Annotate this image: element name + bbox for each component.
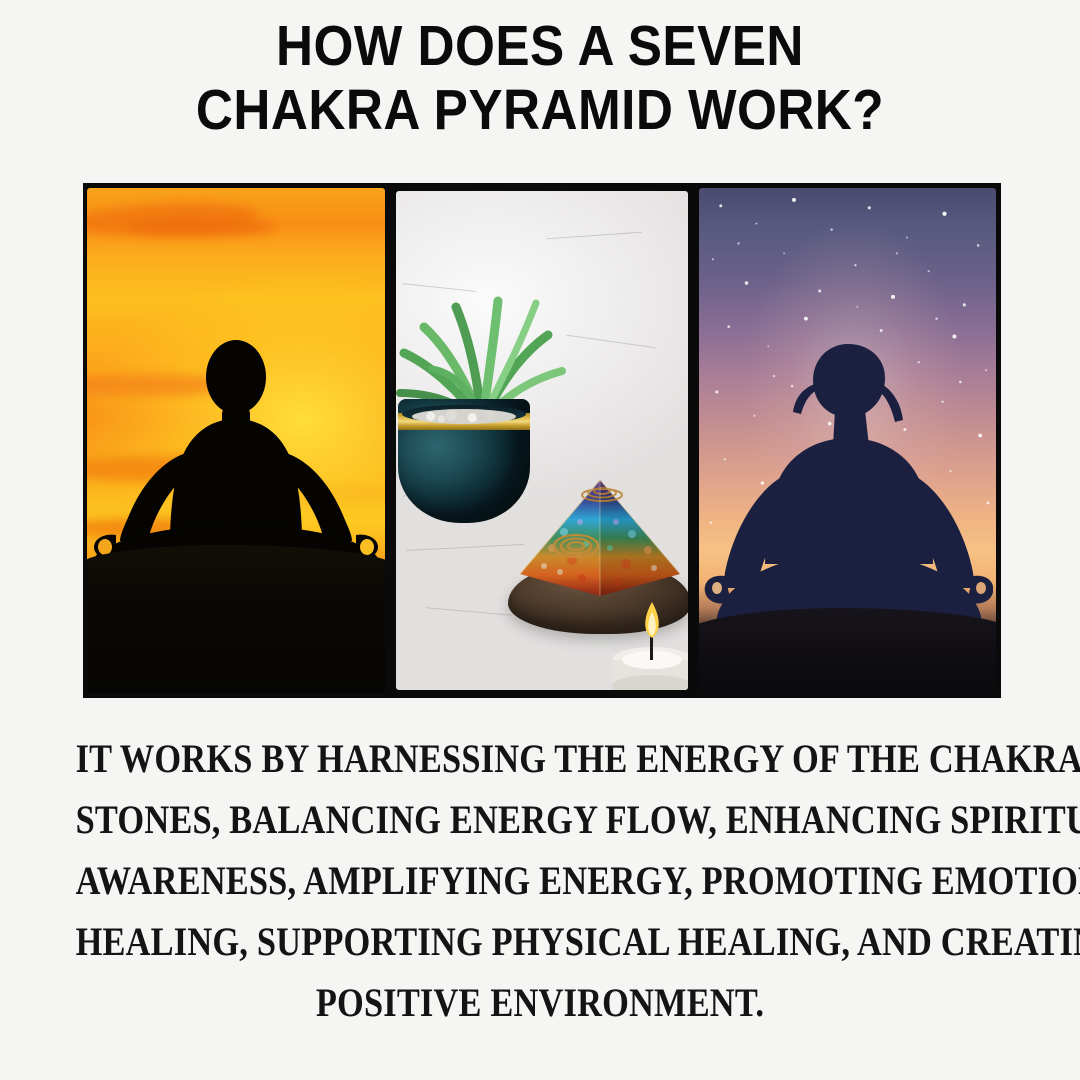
gallery-panel-galaxy-meditation bbox=[695, 183, 1001, 698]
pot-rim bbox=[402, 405, 526, 423]
plaster-texture-line bbox=[566, 335, 655, 349]
body-line-1: IT WORKS BY HARNESSING THE ENERGY OF THE… bbox=[76, 728, 1005, 789]
pot-gravel bbox=[412, 409, 516, 424]
body-line-4: HEALING, SUPPORTING PHYSICAL HEALING, AN… bbox=[76, 911, 1005, 972]
image-gallery-strip bbox=[83, 183, 1001, 698]
cloud-shape bbox=[127, 218, 277, 236]
chakra-pyramid-photo bbox=[396, 191, 688, 690]
body-line-3: AWARENESS, AMPLIFYING ENERGY, PROMOTING … bbox=[76, 850, 1005, 911]
gallery-panel-chakra-pyramid bbox=[389, 183, 695, 698]
plaster-texture-line bbox=[546, 232, 642, 240]
galaxy-sky-photo bbox=[699, 188, 996, 694]
sunset-sky-photo bbox=[87, 188, 385, 693]
page-title-line-2: CHAKRA PYRAMID WORK? bbox=[54, 78, 1026, 142]
meditating-woman-silhouette-icon bbox=[703, 326, 993, 656]
tea-light-candle-icon bbox=[600, 582, 688, 690]
plaster-texture-line bbox=[426, 607, 512, 615]
ground-horizon bbox=[87, 545, 385, 693]
seven-chakra-orgonite-pyramid-icon bbox=[514, 478, 686, 596]
body-line-5: POSITIVE ENVIRONMENT. bbox=[76, 972, 1005, 1033]
page-title-line-1: HOW DOES A SEVEN bbox=[54, 14, 1026, 78]
hilltop-horizon bbox=[699, 608, 996, 694]
body-paragraph: IT WORKS BY HARNESSING THE ENERGY OF THE… bbox=[0, 728, 1080, 1033]
page-title: HOW DOES A SEVEN CHAKRA PYRAMID WORK? bbox=[0, 0, 1080, 142]
gallery-panel-sunset-meditation bbox=[83, 183, 389, 698]
body-line-2: STONES, BALANCING ENERGY FLOW, ENHANCING… bbox=[76, 789, 1005, 850]
